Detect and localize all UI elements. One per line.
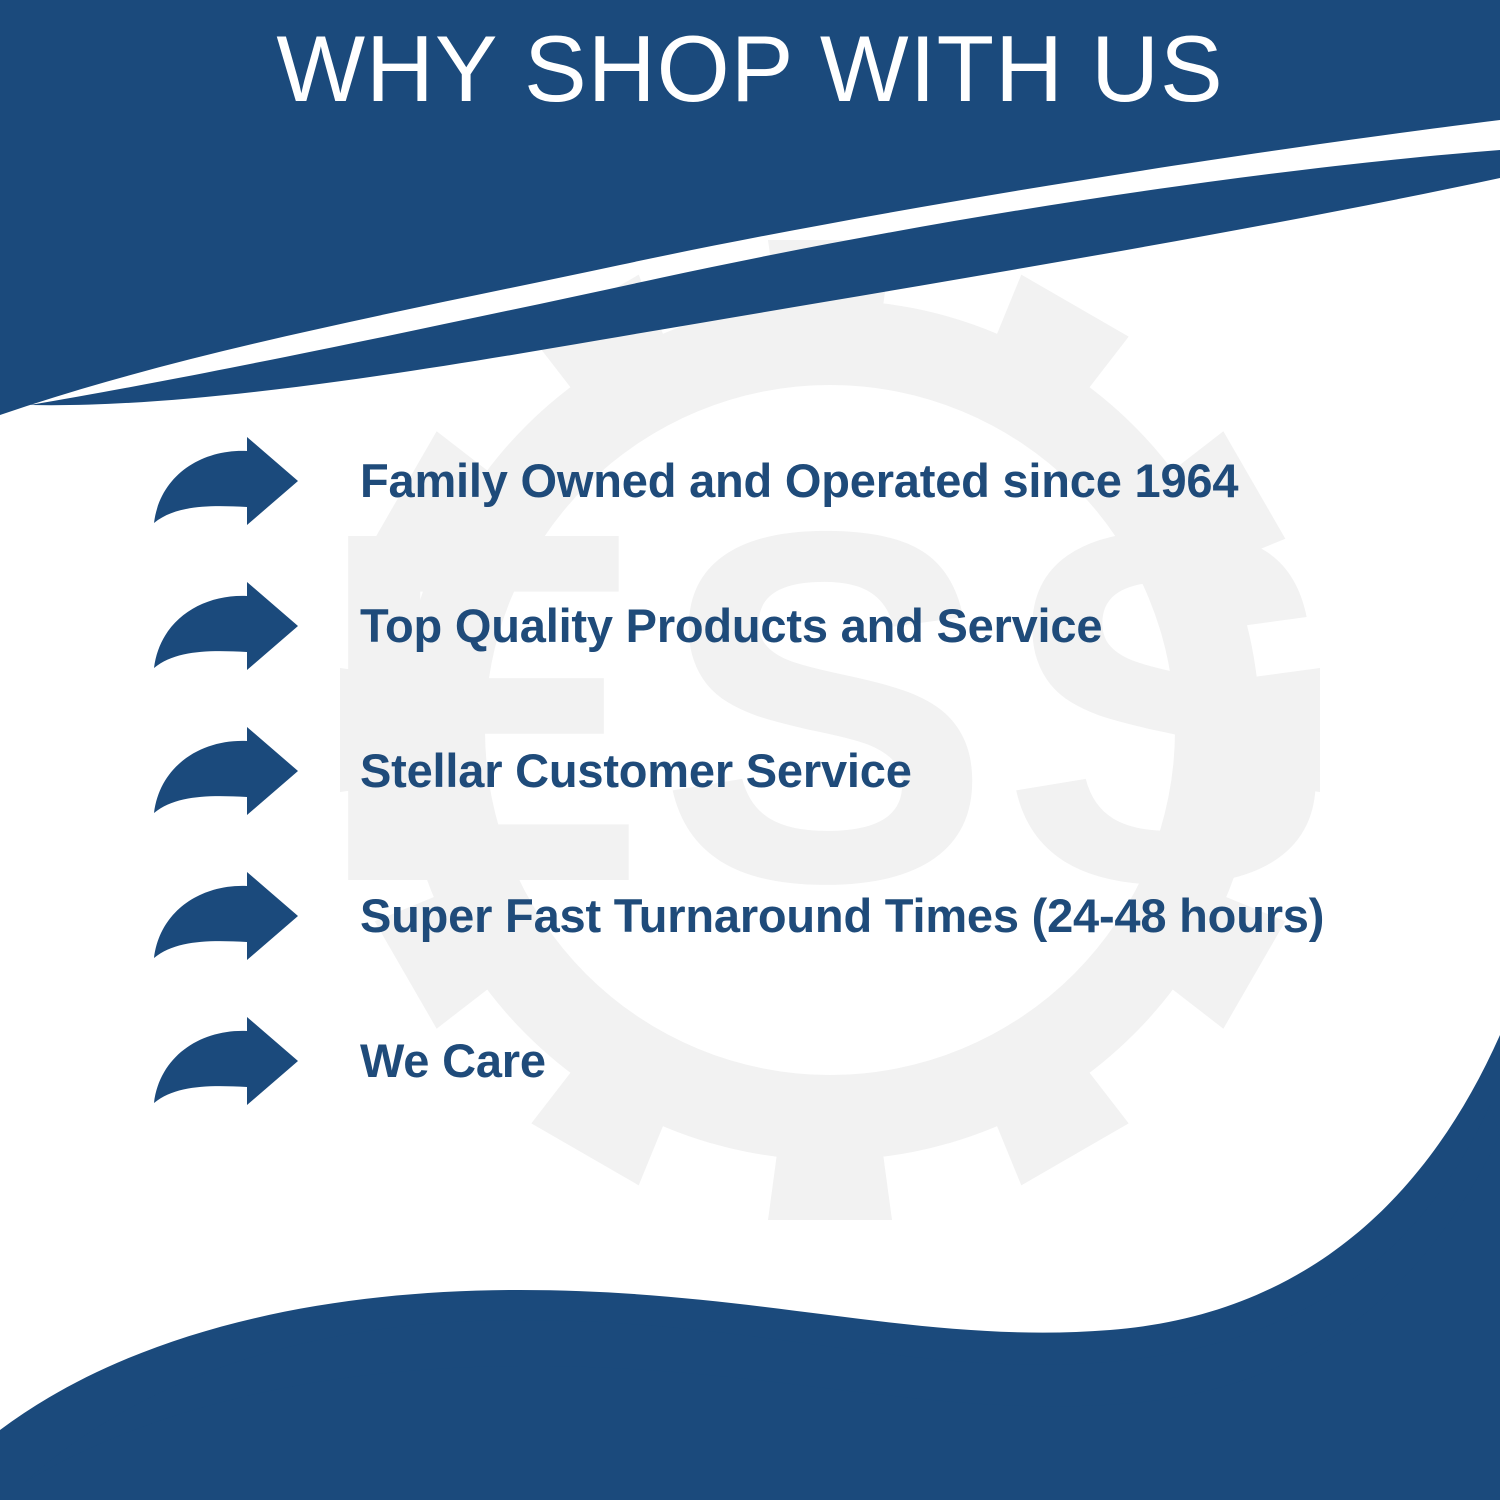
curved-arrow-right-icon bbox=[150, 435, 302, 527]
list-item: Top Quality Products and Service bbox=[0, 575, 1500, 677]
list-item-label: Super Fast Turnaround Times (24-48 hours… bbox=[360, 891, 1324, 940]
list-item-label: Top Quality Products and Service bbox=[360, 601, 1102, 650]
why-shop-with-us-poster: ESS WHY SHOP WITH US Family Owned and Op… bbox=[0, 0, 1500, 1500]
feature-list: Family Owned and Operated since 1964 Top… bbox=[0, 430, 1500, 1112]
curved-arrow-right-icon bbox=[150, 725, 302, 817]
header-accent-swoosh bbox=[30, 150, 1500, 405]
page-title: WHY SHOP WITH US bbox=[0, 22, 1500, 116]
list-item-label: Stellar Customer Service bbox=[360, 746, 912, 795]
list-item-label: Family Owned and Operated since 1964 bbox=[360, 456, 1238, 505]
list-item: Super Fast Turnaround Times (24-48 hours… bbox=[0, 865, 1500, 967]
list-item: Family Owned and Operated since 1964 bbox=[0, 430, 1500, 532]
list-item: Stellar Customer Service bbox=[0, 720, 1500, 822]
list-item: We Care bbox=[0, 1010, 1500, 1112]
list-item-label: We Care bbox=[360, 1036, 546, 1085]
curved-arrow-right-icon bbox=[150, 870, 302, 962]
curved-arrow-right-icon bbox=[150, 580, 302, 672]
curved-arrow-right-icon bbox=[150, 1015, 302, 1107]
footer-accent-swoosh bbox=[25, 1105, 1500, 1482]
